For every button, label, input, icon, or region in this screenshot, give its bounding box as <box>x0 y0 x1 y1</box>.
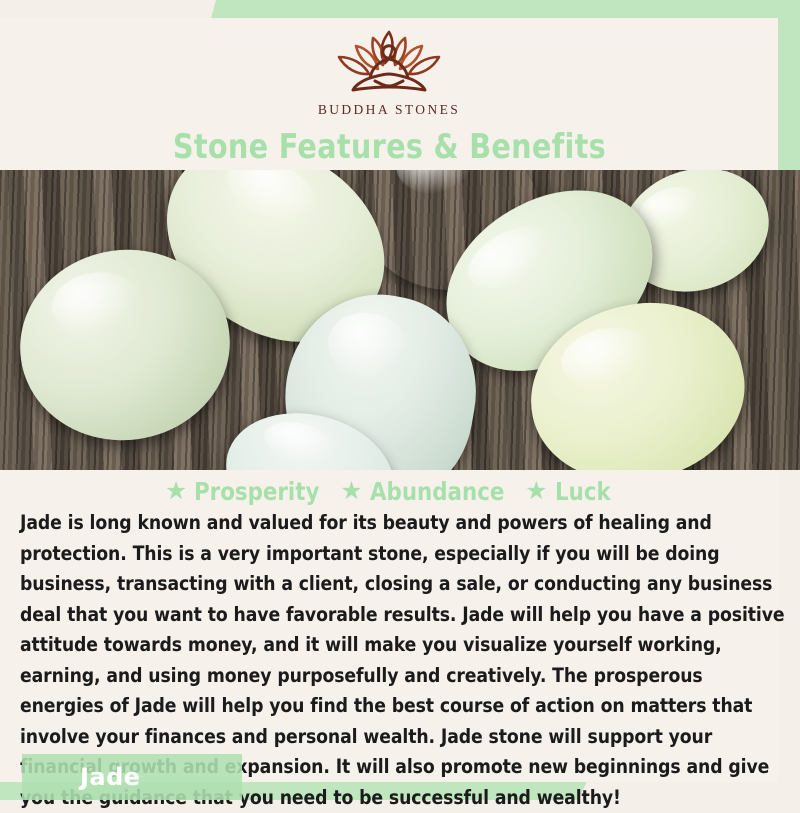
brand-logo: BUDDHA STONES <box>309 26 469 118</box>
star-icon: ★ <box>340 479 362 504</box>
stone-photo <box>0 170 800 470</box>
benefit-label: Luck <box>555 477 611 506</box>
decor-strip-right <box>778 0 800 170</box>
lotus-meditation-icon <box>309 26 469 98</box>
title-band: Stone Features & Benefits <box>0 124 778 170</box>
benefit-prosperity: ★ Prosperity <box>165 477 326 506</box>
stone-name-band: Jade <box>22 754 242 800</box>
page-title: Stone Features & Benefits <box>172 127 605 167</box>
star-icon: ★ <box>165 479 187 504</box>
star-icon: ★ <box>525 479 547 504</box>
stone-name-label: Jade <box>22 763 141 791</box>
brand-name: BUDDHA STONES <box>318 102 460 118</box>
benefit-label: Abundance <box>370 477 504 506</box>
benefits-row: ★ Prosperity ★ Abundance ★ Luck <box>0 474 778 508</box>
benefit-luck: ★ Luck <box>525 477 613 506</box>
benefit-label: Prosperity <box>194 477 319 506</box>
benefit-abundance: ★ Abundance <box>340 477 511 506</box>
